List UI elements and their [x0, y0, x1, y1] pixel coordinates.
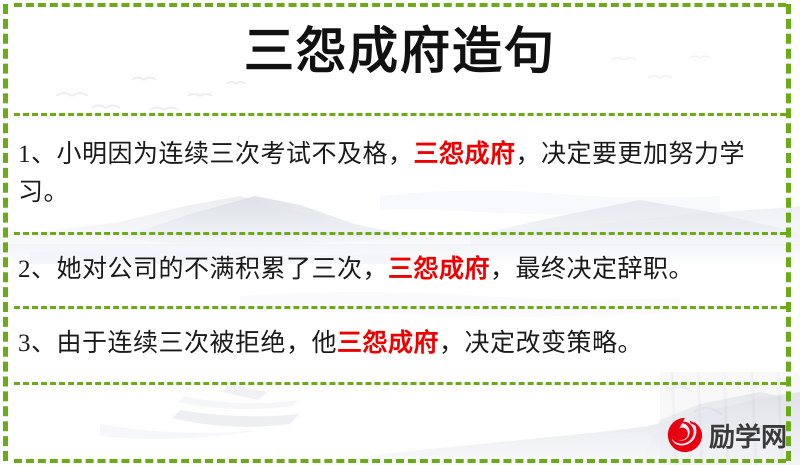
- sentence-text-before: 由于连续三次被拒绝，他: [57, 330, 338, 357]
- sentence-number: 3、: [18, 330, 57, 357]
- page-title: 三怨成府造句: [0, 20, 800, 82]
- sentence-text-before: 她对公司的不满积累了三次，: [57, 256, 389, 283]
- boat-watermark: [100, 384, 300, 439]
- separator-title: [14, 113, 786, 116]
- separator-2: [14, 306, 786, 309]
- birds-watermark: [56, 78, 246, 111]
- sentence-text-before: 小明因为连续三次考试不及格，: [57, 141, 414, 168]
- sentence-number: 2、: [18, 256, 57, 283]
- idiom-highlight: 三怨成府: [414, 141, 516, 168]
- idiom-highlight: 三怨成府: [337, 330, 439, 357]
- page-root: 三怨成府造句 1、小明因为连续三次考试不及格，三怨成府，决定要更加努力学习。 2…: [0, 0, 800, 465]
- separator-3: [14, 382, 786, 385]
- page-border-top: [14, 3, 786, 7]
- sentence-item: 1、小明因为连续三次考试不及格，三怨成府，决定要更加努力学习。: [18, 136, 770, 212]
- sentence-text-after: ，最终决定辞职。: [490, 256, 694, 283]
- red-swirl-icon: [666, 416, 704, 454]
- logo-text: 励学网: [709, 417, 787, 454]
- sentence-text-after: ，决定改变策略。: [439, 330, 643, 357]
- sentence-number: 1、: [18, 141, 57, 168]
- separator-1: [14, 232, 786, 235]
- page-border-left: [3, 4, 8, 461]
- page-border-right: [786, 4, 791, 461]
- sentence-item: 3、由于连续三次被拒绝，他三怨成府，决定改变策略。: [18, 325, 770, 363]
- page-border-bottom: [14, 459, 786, 463]
- site-logo[interactable]: 励学网: [666, 416, 787, 454]
- idiom-highlight: 三怨成府: [388, 256, 490, 283]
- sentence-item: 2、她对公司的不满积累了三次，三怨成府，最终决定辞职。: [18, 251, 770, 289]
